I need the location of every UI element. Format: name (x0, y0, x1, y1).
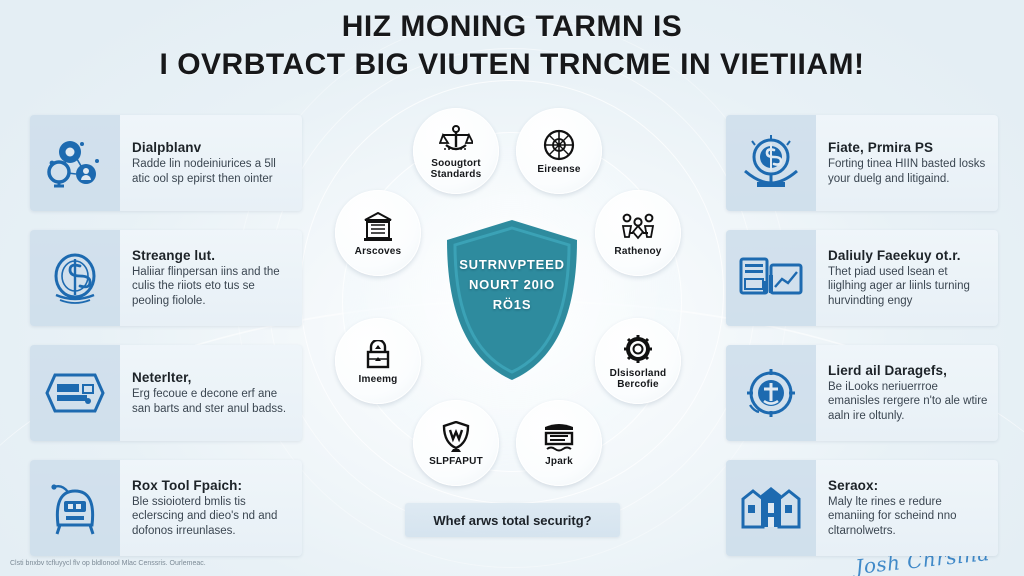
right-card-2[interactable]: Daliuly Faeekuy ot.r. Thet piad used lse… (726, 230, 998, 326)
left-card-2-title: Streange lut. (132, 248, 292, 263)
globe-compass-icon (543, 128, 575, 162)
right-card-2-body: Thet piad used lsean et liiglhing ager a… (828, 265, 988, 309)
hub-node-8-label: Jpark (545, 456, 573, 467)
hub-node-5-label: Imeemg (359, 374, 398, 385)
title-line-1: HIZ MONING TARMN IS (0, 8, 1024, 46)
left-card-3-title: Neterlter, (132, 370, 292, 385)
anchor-scales-icon (439, 122, 473, 156)
right-card-3[interactable]: Lierd ail Daragefs, Be iLooks neriuerrro… (726, 345, 998, 441)
left-card-1-body: Radde lin nodeiniurices a 5ll atic ool s… (132, 157, 292, 186)
hub-node-7-label: SLPFAPUT (429, 456, 483, 467)
right-card-1-body: Forting tinea HIIN basted losks your due… (828, 157, 988, 186)
left-card-4[interactable]: Rox Tool Fpaich: Ble ssioioterd bmlis ti… (30, 460, 302, 556)
right-card-3-body: Be iLooks neriuerrroe emanisles rergere … (828, 380, 988, 424)
signboard-icon (541, 420, 577, 454)
right-card-1[interactable]: Fiate, Prmira PS Forting tinea HIIN bast… (726, 115, 998, 211)
shield-label-line-2: NOURT 20IO (441, 275, 583, 295)
hub-node-6-label: Dlsisorland Bercofie (598, 368, 678, 390)
shield-label-line-1: SUTRNVPTEED (441, 255, 583, 275)
robot-machine-icon (30, 460, 120, 556)
left-card-2-body: Haliiar flinpersan iins and the culis th… (132, 265, 292, 309)
hub-diagram: SUTRNVPTEED NOURT 20IO RÖ1S Soougtort St… (300, 90, 724, 514)
hub-node-soougtort-standards[interactable]: Soougtort Standards (413, 108, 499, 194)
shield-label-line-3: RÖ1S (441, 295, 583, 315)
footnote: Clsti bnxbv tcfluyycl flv op bldlonool M… (10, 559, 206, 568)
right-card-4-title: Seraox: (828, 478, 988, 493)
hub-node-slpfaput[interactable]: SLPFAPUT (413, 400, 499, 486)
shield-trophy-icon (442, 420, 470, 454)
hub-node-arscoves[interactable]: Arscoves (335, 190, 421, 276)
right-card-4-text: Seraox: Maly lte rines e redure emaniing… (816, 460, 998, 556)
left-card-2-text: Streange lut. Haliiar flinpersan iins an… (120, 230, 302, 326)
hub-node-imeemg[interactable]: Imeemg (335, 318, 421, 404)
target-medical-icon (726, 345, 816, 441)
server-hex-icon (30, 345, 120, 441)
padlock-icon (364, 338, 392, 372)
left-card-2[interactable]: Streange lut. Haliiar flinpersan iins an… (30, 230, 302, 326)
left-card-4-body: Ble ssioioterd bmlis tis eclerscing and … (132, 495, 292, 539)
left-card-3[interactable]: Neterlter, Erg fecoue e decone erf ane s… (30, 345, 302, 441)
right-card-2-text: Daliuly Faeekuy ot.r. Thet piad used lse… (816, 230, 998, 326)
network-nodes-icon (30, 115, 120, 211)
right-card-1-text: Fiate, Prmira PS Forting tinea HIIN bast… (816, 115, 998, 211)
archive-building-icon (363, 210, 393, 244)
people-group-icon (621, 210, 655, 244)
hub-node-1-label: Soougtort Standards (416, 158, 496, 180)
money-seal-icon (30, 230, 120, 326)
hub-node-4-label: Rathenoy (614, 246, 661, 257)
hub-node-2-label: Eireense (537, 164, 580, 175)
left-card-3-text: Neterlter, Erg fecoue e decone erf ane s… (120, 345, 302, 441)
gear-icon (623, 332, 653, 366)
page-title: HIZ MONING TARMN IS I OVRBTACT BIG VIUTE… (0, 8, 1024, 84)
right-card-3-title: Lierd ail Daragefs, (828, 363, 988, 378)
dollar-globe-hands-icon (726, 115, 816, 211)
right-card-3-text: Lierd ail Daragefs, Be iLooks neriuerrro… (816, 345, 998, 441)
hub-node-jpark[interactable]: Jpark (516, 400, 602, 486)
hub-node-3-label: Arscoves (355, 246, 402, 257)
hub-node-dlsisorland-bercofie[interactable]: Dlsisorland Bercofie (595, 318, 681, 404)
title-line-2: I OVRBTACT BIG VIUTEN TRNCME IN VIETIIAM… (0, 46, 1024, 84)
hub-node-rathenoy[interactable]: Rathenoy (595, 190, 681, 276)
hub-node-eireense[interactable]: Eireense (516, 108, 602, 194)
left-card-1[interactable]: Dialpblanv Radde lin nodeiniurices a 5ll… (30, 115, 302, 211)
dashboard-chart-icon (726, 230, 816, 326)
right-card-2-title: Daliuly Faeekuy ot.r. (828, 248, 988, 263)
factory-buildings-icon (726, 460, 816, 556)
shield-label: SUTRNVPTEED NOURT 20IO RÖ1S (441, 255, 583, 315)
right-card-4-body: Maly lte rines e redure emaniing for sch… (828, 495, 988, 539)
left-card-1-title: Dialpblanv (132, 140, 292, 155)
left-card-3-body: Erg fecoue e decone erf ane san barts an… (132, 387, 292, 416)
left-card-4-title: Rox Tool Fpaich: (132, 478, 292, 493)
left-card-1-text: Dialpblanv Radde lin nodeiniurices a 5ll… (120, 115, 302, 211)
right-card-1-title: Fiate, Prmira PS (828, 140, 988, 155)
left-card-4-text: Rox Tool Fpaich: Ble ssioioterd bmlis ti… (120, 460, 302, 556)
right-card-4[interactable]: Seraox: Maly lte rines e redure emaniing… (726, 460, 998, 556)
hub-caption: Whef arws total securitg? (405, 503, 620, 537)
